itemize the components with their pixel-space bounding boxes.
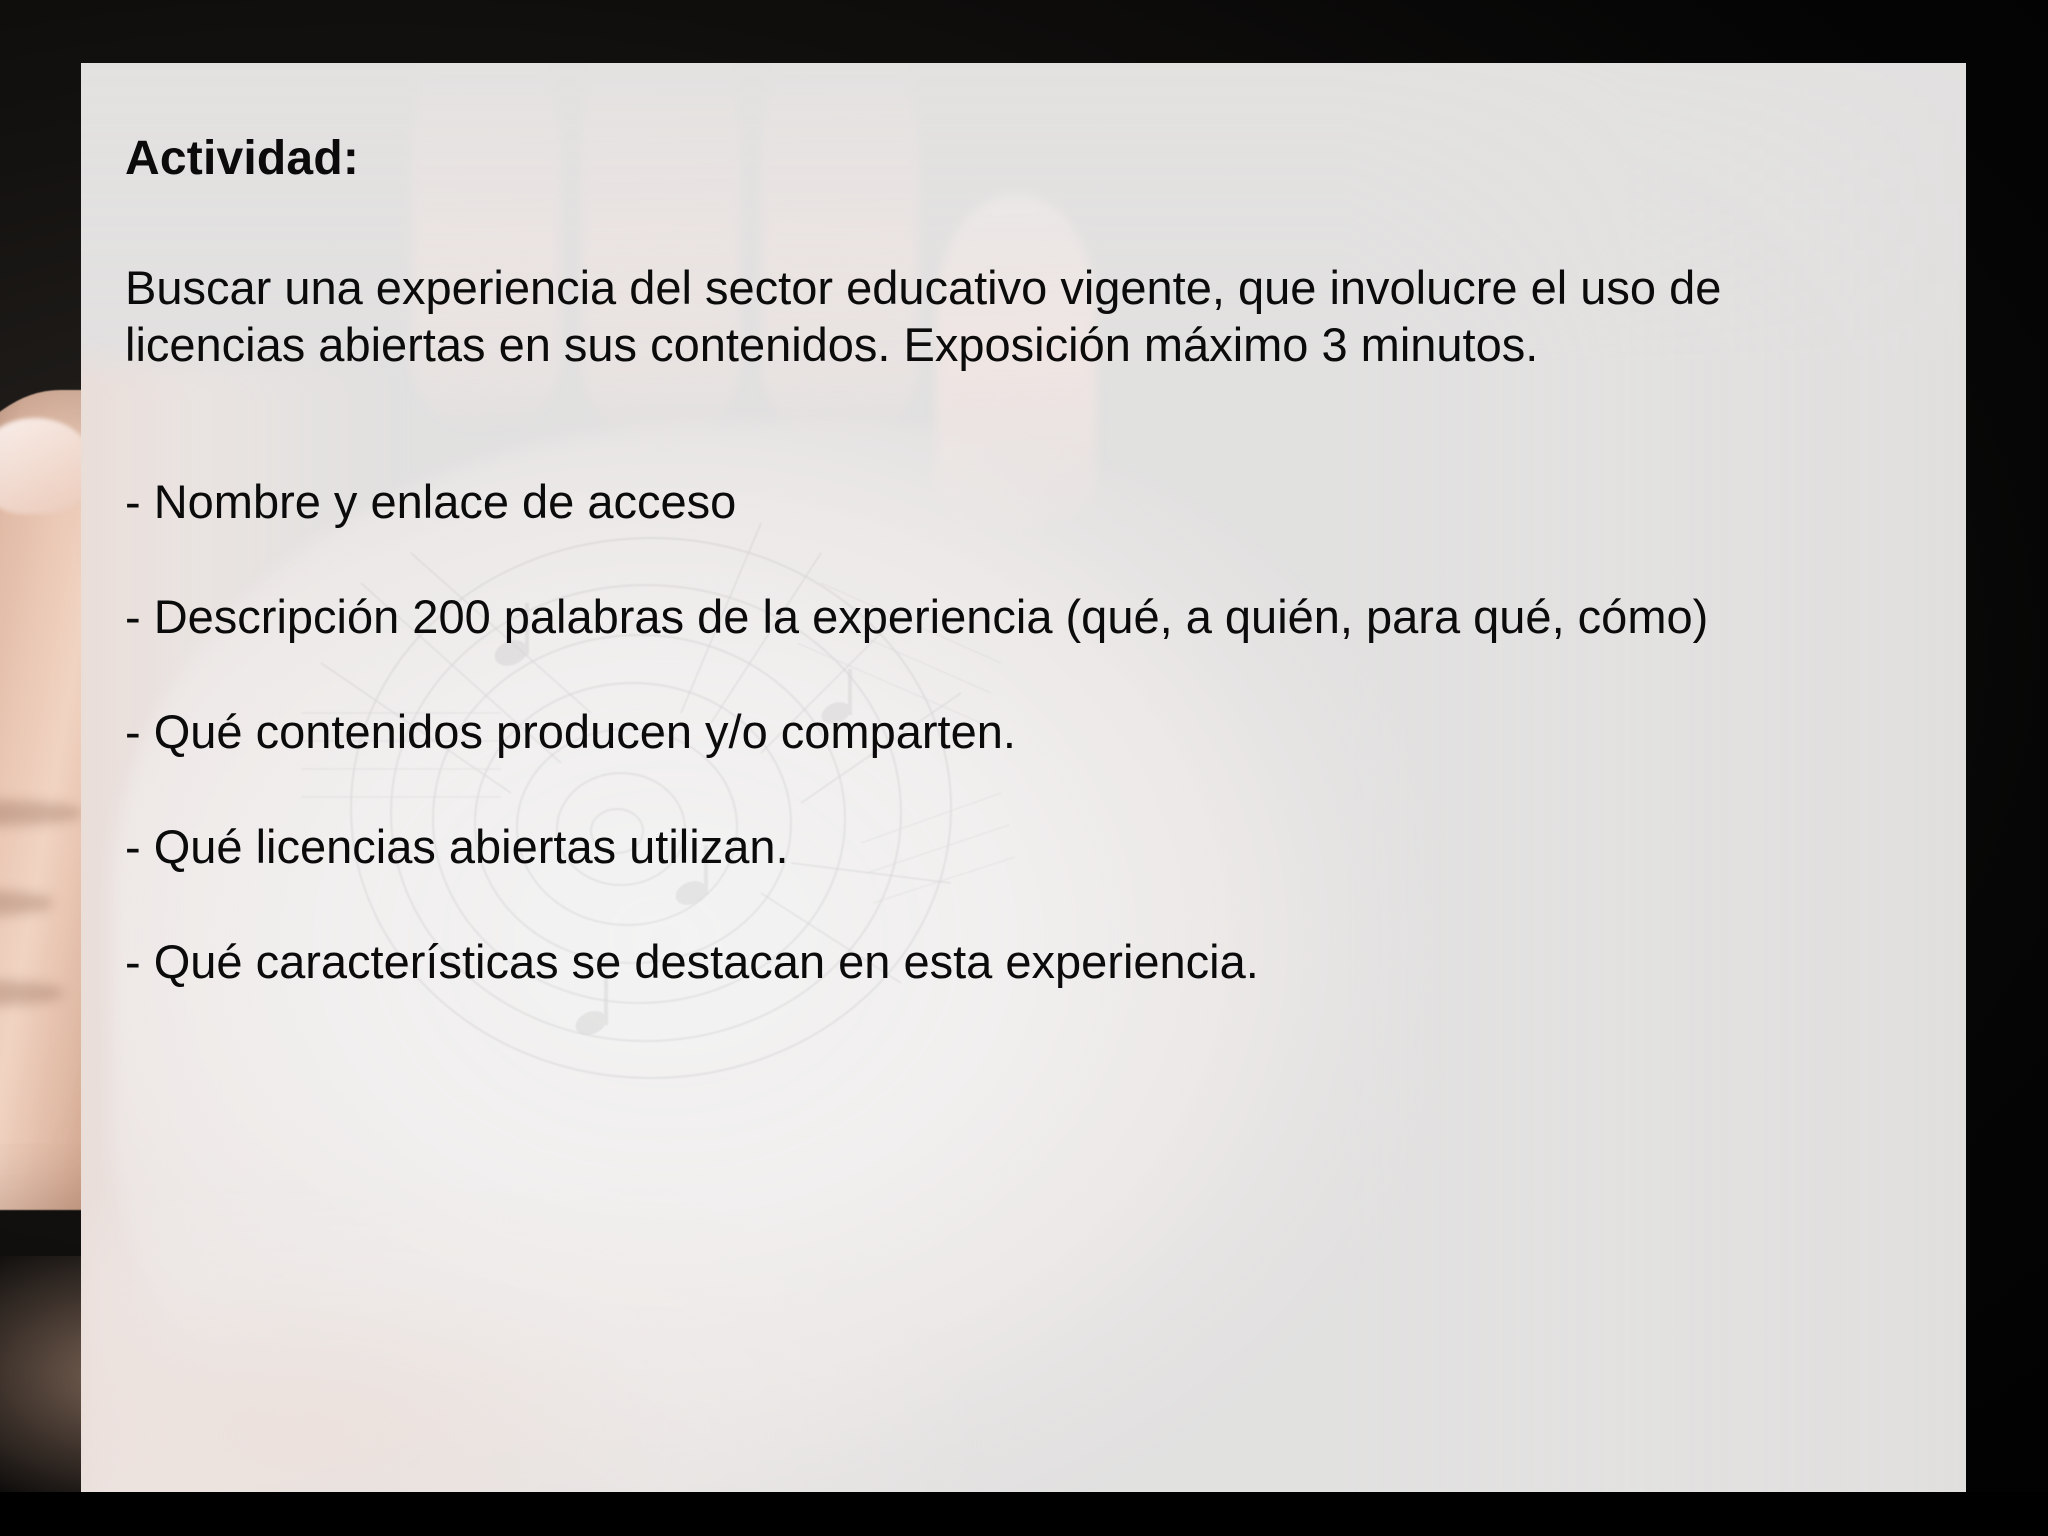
slide-bullet-list: - Nombre y enlace de acceso - Descripció…: [125, 473, 1845, 990]
knuckle-crease: [0, 980, 64, 1006]
presentation-stage: Actividad: Buscar una experiencia del se…: [0, 0, 2048, 1536]
knuckle-crease: [0, 800, 84, 826]
slide-text-layer: Actividad: Buscar una experiencia del se…: [81, 63, 1966, 1493]
list-item: - Qué características se destacan en est…: [125, 933, 1845, 990]
list-item: - Qué contenidos producen y/o comparten.: [125, 703, 1845, 760]
slide-paragraph: Buscar una experiencia del sector educat…: [125, 259, 1825, 373]
list-item: - Descripción 200 palabras de la experie…: [125, 588, 1845, 645]
knuckle-crease: [0, 890, 54, 916]
slide-canvas: Actividad: Buscar una experiencia del se…: [81, 63, 1966, 1493]
list-item: - Nombre y enlace de acceso: [125, 473, 1845, 530]
slide-heading: Actividad:: [125, 131, 359, 186]
list-item: - Qué licencias abiertas utilizan.: [125, 818, 1845, 875]
stage-bottom-edge: [0, 1492, 2048, 1536]
